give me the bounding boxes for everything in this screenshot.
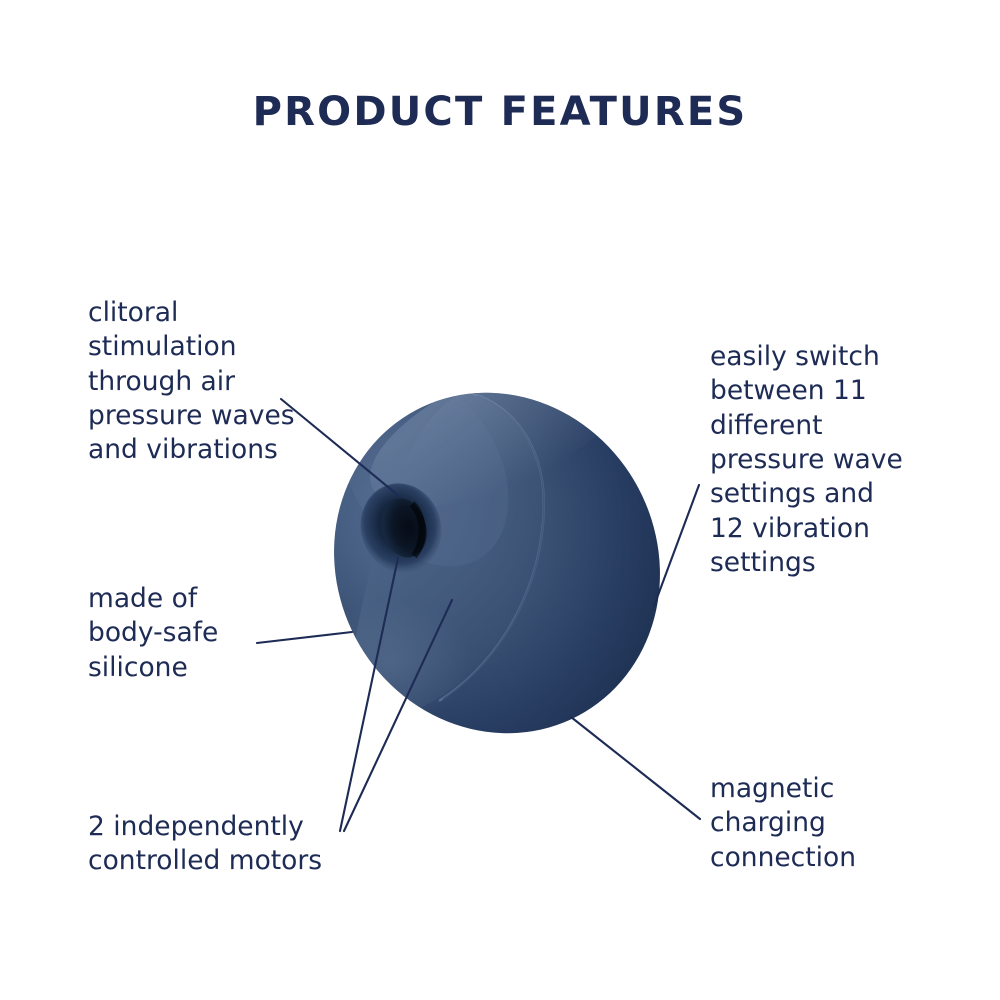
product-features-infographic: PRODUCT FEATURES (0, 0, 1000, 1000)
product-ridge-line (439, 394, 544, 701)
callout-magnetic-charging: magnetic charging connection (710, 772, 930, 875)
air-pulse-nozzle (350, 474, 452, 583)
product-ridge-shadow (443, 396, 544, 699)
nozzle-inner-shadow (412, 504, 422, 556)
leader-line-magnetic-charging (571, 717, 700, 819)
nozzle-opening (375, 493, 434, 563)
page-title: PRODUCT FEATURES (0, 92, 1000, 132)
callout-two-motors: 2 independently controlled motors (88, 810, 378, 879)
callout-clitoral-stimulation: clitoral stimulation through air pressur… (88, 296, 338, 468)
leader-line-two-motors-b (344, 600, 452, 831)
nozzle-recess (350, 474, 452, 583)
callout-body-safe-silicone: made of body-safe silicone (88, 582, 318, 685)
product-face-highlight (307, 343, 543, 598)
product-body (275, 322, 720, 791)
product-rim-highlight (349, 322, 650, 538)
leader-line-pressure-settings (654, 485, 699, 606)
product-face-panel (345, 391, 542, 717)
leader-line-two-motors-a (340, 558, 398, 831)
callout-pressure-settings: easily switch between 11 different press… (710, 340, 940, 580)
product-bounce-light (314, 600, 470, 724)
